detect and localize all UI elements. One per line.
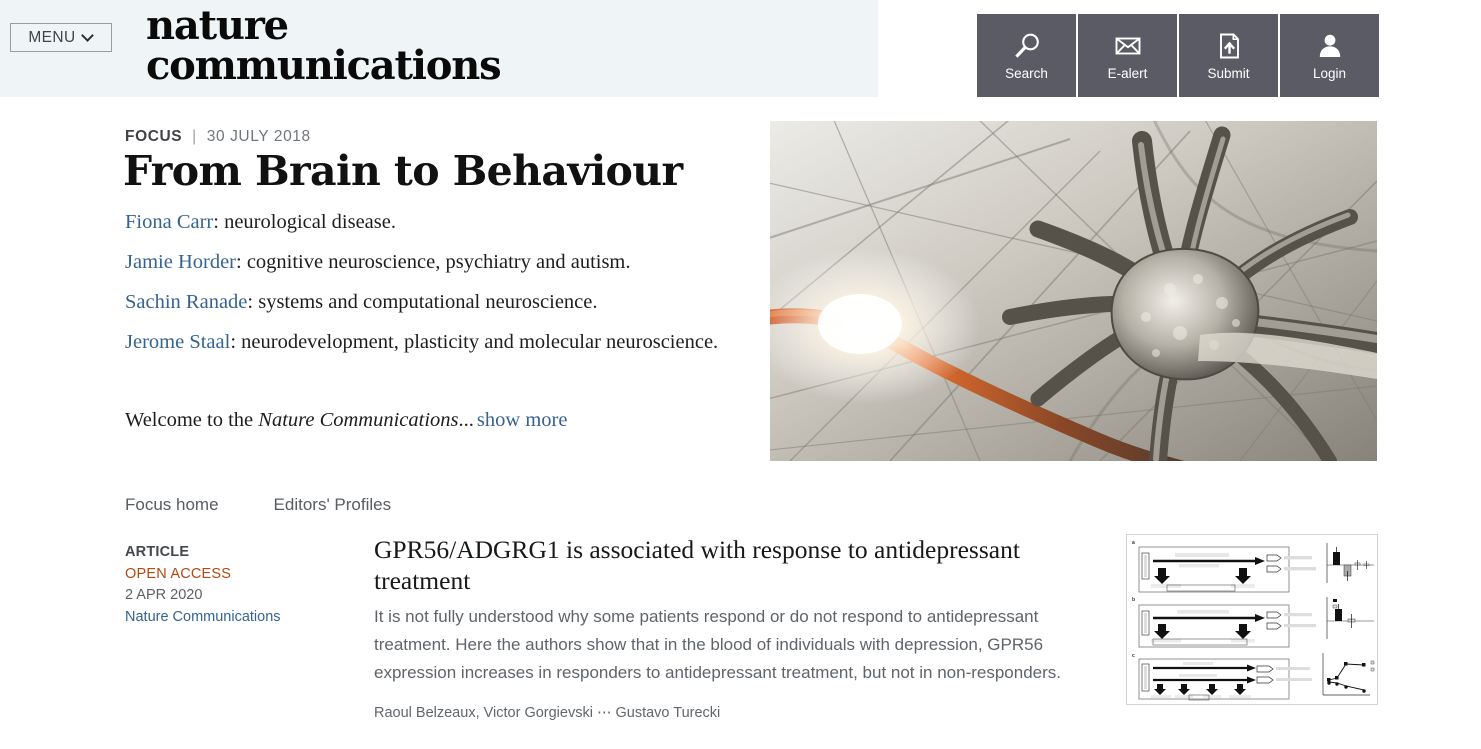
menu-button[interactable]: MENU: [10, 23, 112, 52]
ealert-button[interactable]: E-alert: [1078, 14, 1177, 97]
document-upload-icon: [1214, 31, 1244, 61]
editor-link-sachin-ranade[interactable]: Sachin Ranade: [125, 291, 247, 313]
article-thumbnail[interactable]: a: [1126, 534, 1378, 705]
login-button-label: Login: [1313, 67, 1346, 81]
tab-focus-home[interactable]: Focus home: [125, 495, 219, 515]
welcome-journal-name: Nature Communications: [258, 409, 458, 431]
ealert-button-label: E-alert: [1108, 67, 1148, 81]
editor-topic: : neurodevelopment, plasticity and molec…: [230, 331, 718, 353]
logo-line-communications: communications: [146, 46, 500, 86]
header-nav: Search E-alert Submit L: [977, 14, 1379, 97]
site-header: MENU nature communications: [0, 0, 878, 97]
chevron-down-icon: [83, 30, 94, 41]
editor-list-item: Fiona Carr: neurological disease.: [125, 209, 725, 236]
svg-text:a: a: [1132, 540, 1135, 546]
article-description: It is not fully understood why some pati…: [374, 603, 1114, 687]
focus-hero: FOCUS | 30 JULY 2018 From Brain to Behav…: [0, 97, 1481, 477]
login-button[interactable]: Login: [1280, 14, 1379, 97]
focus-tabs: Focus home Editors' Profiles: [125, 495, 391, 515]
editor-topic: : systems and computational neuroscience…: [247, 291, 597, 313]
editor-link-jamie-horder[interactable]: Jamie Horder: [125, 251, 236, 273]
hero-image: [770, 121, 1377, 461]
article-title-link[interactable]: GPR56/ADGRG1 is associated with response…: [374, 534, 1114, 596]
search-icon: [1012, 31, 1042, 61]
show-more-link[interactable]: show more: [474, 409, 568, 431]
hero-kicker-date: 30 JULY 2018: [207, 128, 311, 145]
page-title: From Brain to Behaviour: [123, 145, 683, 197]
article-type-label: ARTICLE: [125, 542, 355, 564]
tab-editors-profiles[interactable]: Editors' Profiles: [274, 495, 392, 515]
submit-button[interactable]: Submit: [1179, 14, 1278, 97]
article-main: GPR56/ADGRG1 is associated with response…: [374, 534, 1114, 721]
menu-button-label: MENU: [28, 29, 75, 47]
editor-list-item: Jamie Horder: cognitive neuroscience, ps…: [125, 249, 725, 276]
envelope-icon: [1113, 31, 1143, 61]
editor-link-fiona-carr[interactable]: Fiona Carr: [125, 211, 213, 233]
editor-list-item: Jerome Staal: neurodevelopment, plastici…: [125, 329, 725, 356]
article-journal-link[interactable]: Nature Communications: [125, 607, 355, 629]
submit-button-label: Submit: [1207, 67, 1249, 81]
article-meta: ARTICLE OPEN ACCESS 2 APR 2020 Nature Co…: [125, 542, 355, 628]
svg-text:c: c: [1132, 653, 1135, 659]
article-authors: Raoul Belzeaux, Victor Gorgievski ⋯ Gust…: [374, 705, 1114, 721]
search-button-label: Search: [1005, 67, 1048, 81]
editor-topic: : neurological disease.: [213, 211, 396, 233]
editor-link-jerome-staal[interactable]: Jerome Staal: [125, 331, 230, 353]
welcome-text: Welcome to the Nature Communications...s…: [125, 407, 567, 434]
hero-kicker-type: FOCUS: [125, 128, 182, 145]
editor-list: Fiona Carr: neurological disease. Jamie …: [125, 209, 725, 369]
hero-kicker: FOCUS | 30 JULY 2018: [125, 128, 311, 146]
nature-communications-logo[interactable]: nature communications: [146, 6, 500, 86]
open-access-badge: OPEN ACCESS: [125, 564, 355, 586]
search-button[interactable]: Search: [977, 14, 1076, 97]
svg-text:b: b: [1132, 597, 1135, 603]
hero-kicker-separator: |: [187, 128, 202, 145]
article-date: 2 APR 2020: [125, 585, 355, 607]
welcome-ellipsis: ...: [459, 409, 474, 431]
user-icon: [1315, 31, 1345, 61]
editor-topic: : cognitive neuroscience, psychiatry and…: [236, 251, 631, 273]
editor-list-item: Sachin Ranade: systems and computational…: [125, 289, 725, 316]
welcome-prefix: Welcome to the: [125, 409, 258, 431]
